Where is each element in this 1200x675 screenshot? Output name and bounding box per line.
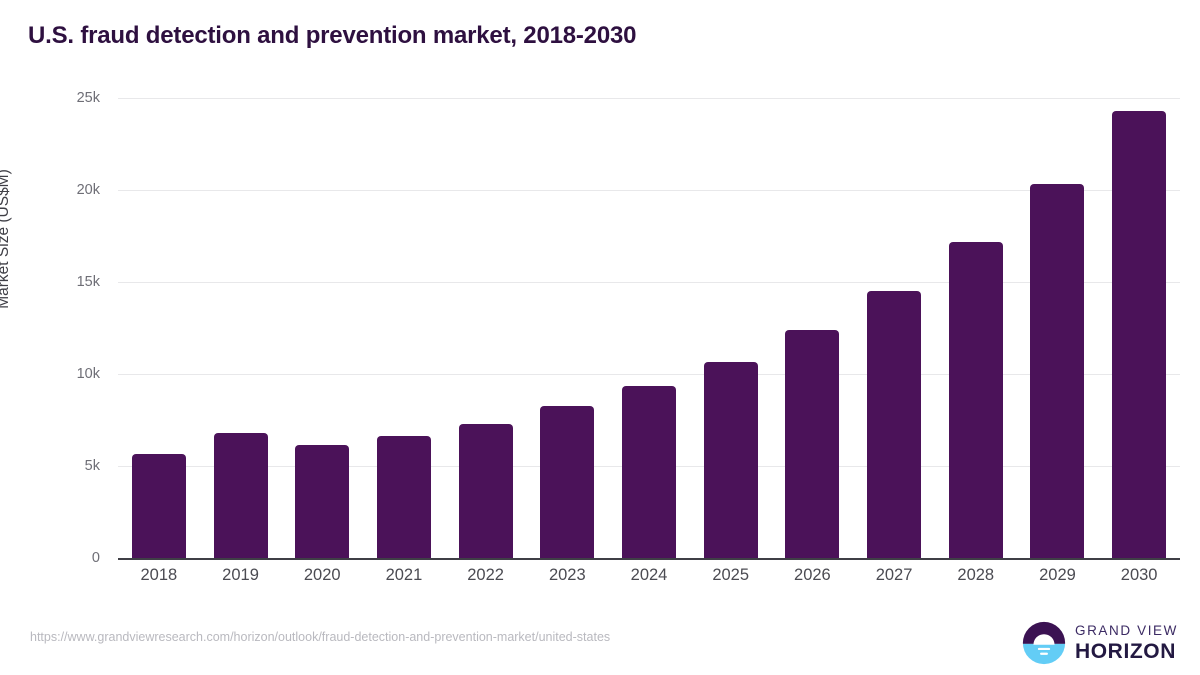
bar-slot — [853, 98, 935, 558]
bar-2030[interactable] — [1112, 111, 1166, 558]
logo-line-grand-view: GRAND VIEW — [1075, 624, 1178, 638]
bar-slot — [281, 98, 363, 558]
x-axis-tick-label-2026: 2026 — [794, 566, 831, 585]
x-axis-tick-label-2023: 2023 — [549, 566, 586, 585]
y-axis-tick-label: 15k — [8, 274, 100, 290]
bar-2019[interactable] — [214, 433, 268, 558]
bar-slot — [200, 98, 282, 558]
x-axis-tick-label-2018: 2018 — [140, 566, 177, 585]
bar-slot — [772, 98, 854, 558]
logo-wordmark: GRAND VIEW HORIZON — [1075, 624, 1178, 662]
bar-2028[interactable] — [949, 242, 1003, 558]
x-axis-tick-labels: 2018201920202021202220232024202520262027… — [118, 566, 1180, 596]
x-axis-tick-label-2025: 2025 — [712, 566, 749, 585]
bar-2027[interactable] — [867, 291, 921, 558]
bar-slot — [690, 98, 772, 558]
bar-2023[interactable] — [540, 406, 594, 558]
chart-page: U.S. fraud detection and prevention mark… — [0, 0, 1200, 675]
x-axis-tick-label-2019: 2019 — [222, 566, 259, 585]
plot-area — [118, 98, 1180, 558]
bar-2022[interactable] — [459, 424, 513, 558]
grand-view-horizon-logo[interactable]: GRAND VIEW HORIZON — [1022, 618, 1178, 668]
y-axis-title: Market Size (US$M) — [0, 29, 13, 449]
bar-series — [118, 98, 1180, 558]
x-axis-tick-label-2030: 2030 — [1121, 566, 1158, 585]
y-axis-tick-label: 25k — [8, 90, 100, 106]
bar-slot — [118, 98, 200, 558]
y-axis-tick-label: 5k — [8, 458, 100, 474]
bar-2021[interactable] — [377, 436, 431, 558]
x-axis-tick-label-2022: 2022 — [467, 566, 504, 585]
bar-slot — [608, 98, 690, 558]
x-axis-tick-label-2027: 2027 — [876, 566, 913, 585]
bar-2026[interactable] — [785, 330, 839, 558]
bar-slot — [935, 98, 1017, 558]
source-url[interactable]: https://www.grandviewresearch.com/horizo… — [30, 630, 610, 644]
bar-slot — [526, 98, 608, 558]
horizon-circle-icon — [1022, 621, 1066, 665]
bar-2018[interactable] — [132, 454, 186, 558]
y-axis-tick-label: 20k — [8, 182, 100, 198]
bar-slot — [445, 98, 527, 558]
bar-slot — [363, 98, 445, 558]
y-axis-tick-label: 0 — [8, 550, 100, 566]
x-axis-tick-label-2029: 2029 — [1039, 566, 1076, 585]
bar-2020[interactable] — [295, 445, 349, 558]
logo-line-horizon: HORIZON — [1075, 641, 1178, 662]
y-axis-tick-label: 10k — [8, 366, 100, 382]
x-axis-line — [118, 558, 1180, 560]
bar-slot — [1017, 98, 1099, 558]
x-axis-tick-label-2021: 2021 — [386, 566, 423, 585]
x-axis-tick-label-2024: 2024 — [631, 566, 668, 585]
bar-2029[interactable] — [1030, 184, 1084, 558]
x-axis-tick-label-2020: 2020 — [304, 566, 341, 585]
x-axis-tick-label-2028: 2028 — [957, 566, 994, 585]
bar-2025[interactable] — [704, 362, 758, 558]
bar-2024[interactable] — [622, 386, 676, 558]
page-title: U.S. fraud detection and prevention mark… — [28, 22, 636, 50]
bar-slot — [1098, 98, 1180, 558]
